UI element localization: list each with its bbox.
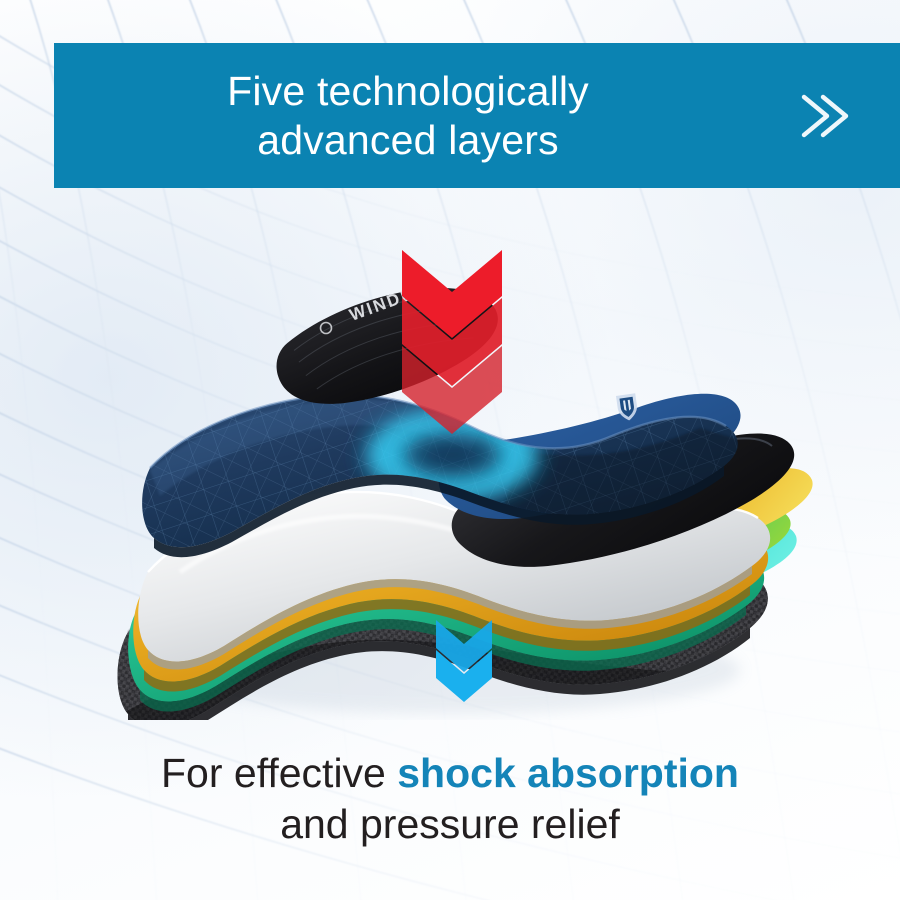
double-chevron-right-icon — [790, 85, 852, 147]
infographic-canvas: Five technologically advanced layers — [0, 0, 900, 900]
layered-insole-illustration: WINDE — [0, 200, 900, 720]
caption-line-2: and pressure relief — [0, 799, 900, 850]
caption-lead: For effective — [161, 750, 397, 796]
banner-title-line-1: Five technologically — [62, 67, 754, 115]
banner-title: Five technologically advanced layers — [54, 67, 754, 164]
caption-accent: shock absorption — [397, 750, 739, 796]
banner-title-line-2: advanced layers — [62, 116, 754, 164]
caption-line-1: For effective shock absorption — [0, 748, 900, 799]
caption-text: For effective shock absorption and press… — [0, 748, 900, 851]
header-banner: Five technologically advanced layers — [54, 43, 900, 188]
